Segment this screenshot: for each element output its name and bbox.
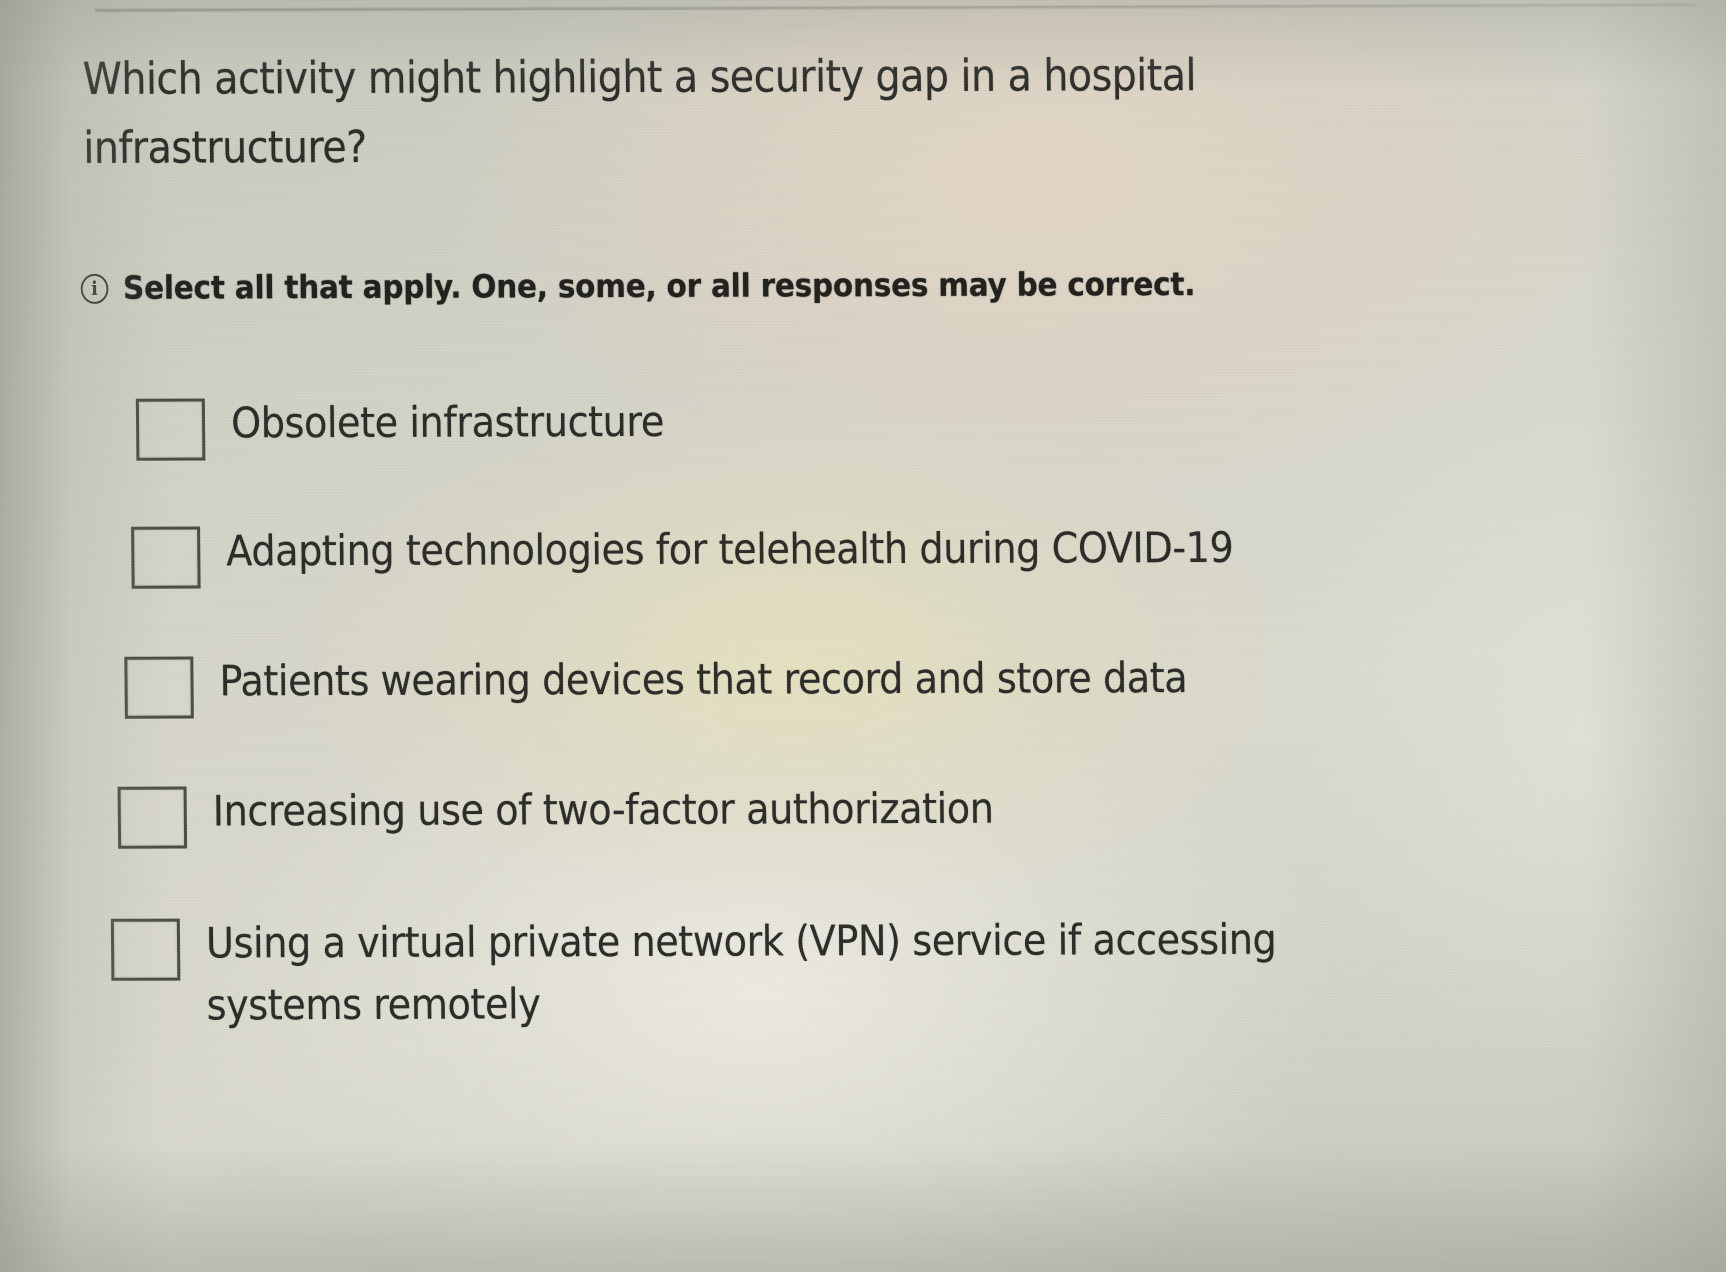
answer-option-patients-wearing-devices[interactable]: Patients wearing devices that record and… — [124, 647, 1283, 719]
answer-option-obsolete-infrastructure[interactable]: Obsolete infrastructure — [136, 391, 707, 461]
quiz-content: Which activity might highlight a securit… — [0, 0, 1726, 1272]
top-divider — [95, 3, 1695, 12]
instruction-label: Select all that apply. One, some, or all… — [123, 265, 1196, 307]
answer-option-adapting-technologies[interactable]: Adapting technologies for telehealth dur… — [131, 517, 1333, 589]
option-label-4[interactable]: Increasing use of two-factor authorizati… — [212, 778, 993, 843]
answer-options-list: Obsolete infrastructure Adapting technol… — [4, 387, 1726, 393]
select-all-instruction: i Select all that apply. One, some, or a… — [81, 265, 1196, 307]
screen-photo: Which activity might highlight a securit… — [0, 0, 1726, 1272]
checkbox-option-1[interactable] — [136, 398, 206, 460]
checkbox-option-5[interactable] — [111, 919, 181, 981]
option-label-2[interactable]: Adapting technologies for telehealth dur… — [226, 517, 1234, 583]
option-label-1[interactable]: Obsolete infrastructure — [231, 391, 664, 455]
answer-option-vpn-service[interactable]: Using a virtual private network (VPN) se… — [111, 908, 1383, 1036]
checkbox-option-4[interactable] — [118, 787, 188, 849]
question-text: Which activity might highlight a securit… — [82, 41, 1253, 183]
option-label-3[interactable]: Patients wearing devices that record and… — [219, 647, 1187, 712]
info-circle-icon: i — [81, 274, 109, 304]
checkbox-option-2[interactable] — [131, 527, 201, 589]
option-label-5[interactable]: Using a virtual private network (VPN) se… — [206, 909, 1277, 1037]
checkbox-option-3[interactable] — [124, 657, 194, 719]
answer-option-two-factor-authorization[interactable]: Increasing use of two-factor authorizati… — [117, 777, 1071, 848]
